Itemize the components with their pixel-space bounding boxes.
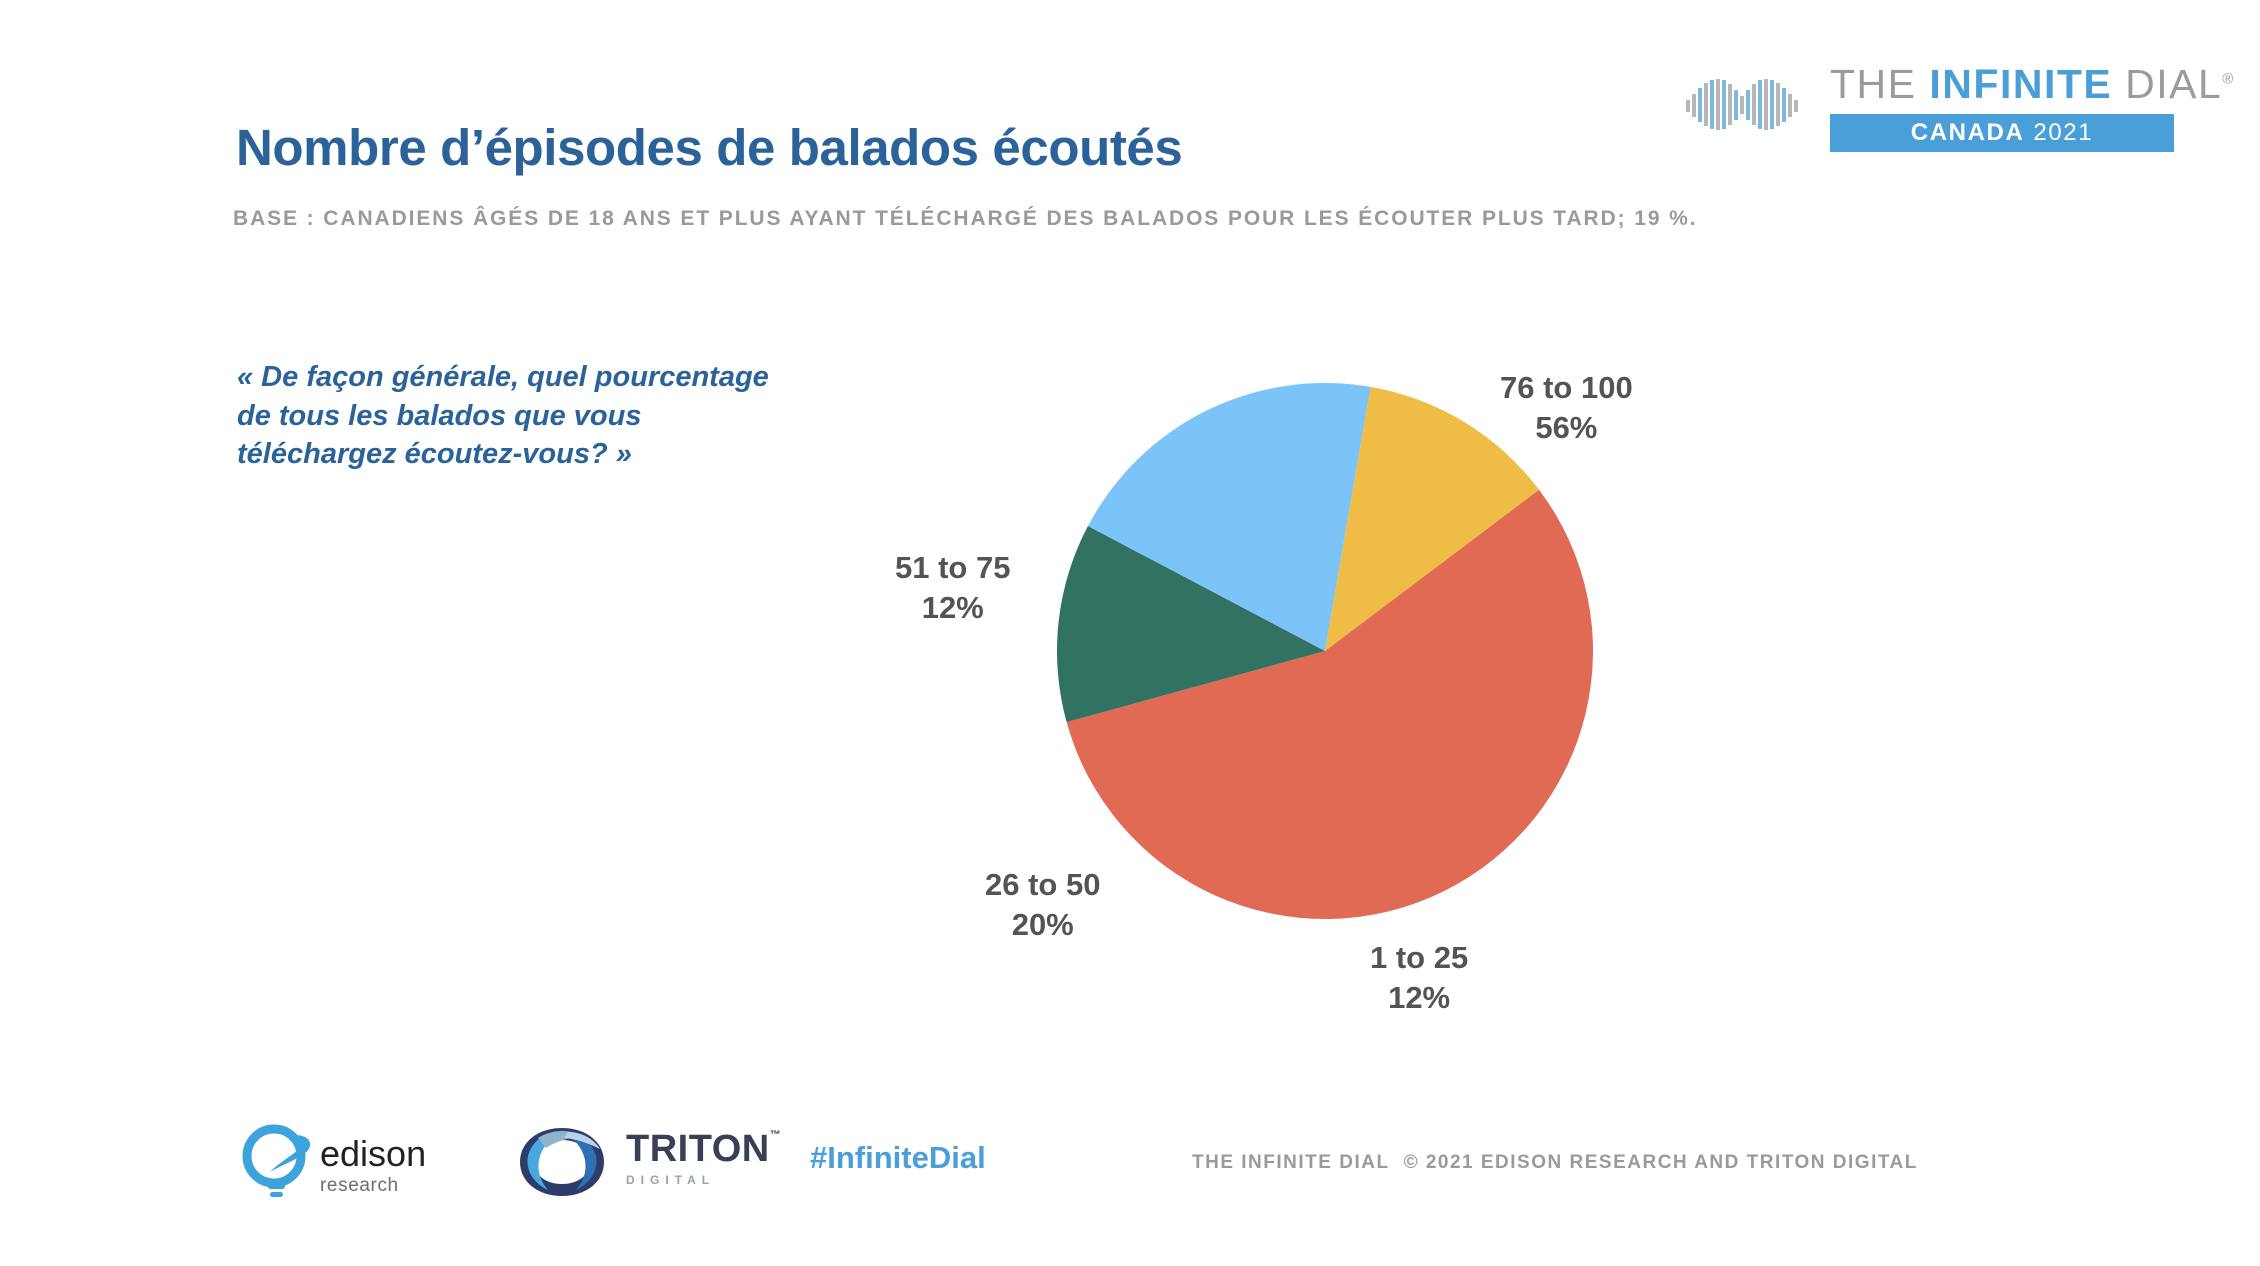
pie-label-1-to-25: 1 to 25 12%: [1370, 938, 1468, 1017]
triton-sub: DIGITAL: [626, 1173, 781, 1187]
pie-label-category: 26 to 50: [985, 865, 1100, 905]
hashtag-infinitedial[interactable]: #InfiniteDial: [810, 1140, 986, 1176]
pie-label-value: 56%: [1500, 408, 1633, 448]
triton-shield-icon: [508, 1122, 616, 1200]
pie-label-value: 12%: [1370, 978, 1468, 1018]
infinite-dial-wordmark: THE INFINITE DIAL®: [1830, 64, 2235, 105]
logo-country-year-bar: CANADA2021: [1830, 114, 2174, 152]
infinite-dial-logo: THE INFINITE DIAL® CANADA2021: [1684, 62, 2174, 152]
copyright-notice: THE INFINITE DIAL© 2021 EDISON RESEARCH …: [1192, 1152, 1918, 1174]
edison-research-logo: edison research: [232, 1122, 422, 1202]
triton-digital-logo: TRITON™ DIGITAL: [508, 1122, 726, 1200]
logo-year: 2021: [2033, 114, 2093, 152]
triton-tm: ™: [770, 1129, 782, 1141]
page-subtitle: BASE : CANADIENS ÂGÉS DE 18 ANS ET PLUS …: [233, 207, 1697, 231]
infinity-mark-icon: [1684, 72, 1814, 138]
triton-name: TRITON™: [626, 1130, 781, 1168]
pie-label-value: 20%: [985, 905, 1100, 945]
pie-label-category: 51 to 75: [895, 548, 1010, 588]
logo-word-the: THE: [1830, 61, 1917, 107]
edison-sub: research: [320, 1175, 426, 1197]
edison-name: edison: [320, 1136, 426, 1172]
triton-name-text: TRITON: [626, 1128, 770, 1170]
triton-wordmark: TRITON™ DIGITAL: [626, 1130, 781, 1187]
logo-word-dial: DIAL: [2125, 61, 2222, 107]
logo-country: CANADA: [1911, 114, 2025, 152]
pie-label-category: 76 to 100: [1500, 368, 1633, 408]
slide-canvas: THE INFINITE DIAL® CANADA2021 Nombre d’é…: [0, 0, 2260, 1266]
pie-label-26-to-50: 26 to 50 20%: [985, 865, 1100, 944]
registered-mark-icon: ®: [2222, 70, 2235, 87]
pie-label-51-to-75: 51 to 75 12%: [895, 548, 1010, 627]
edison-wordmark: edison research: [320, 1136, 426, 1197]
pie-label-76-to-100: 76 to 100 56%: [1500, 368, 1633, 447]
page-title: Nombre d’épisodes de balados écoutés: [236, 118, 1182, 177]
pie-label-category: 1 to 25: [1370, 938, 1468, 978]
survey-question: « De façon générale, quel pourcentage de…: [237, 358, 782, 474]
copyright-text: © 2021 EDISON RESEARCH AND TRITON DIGITA…: [1404, 1152, 1918, 1173]
logo-word-infinite: INFINITE: [1929, 61, 2112, 107]
pie-label-value: 12%: [895, 588, 1010, 628]
copyright-brand: THE INFINITE DIAL: [1192, 1152, 1390, 1173]
